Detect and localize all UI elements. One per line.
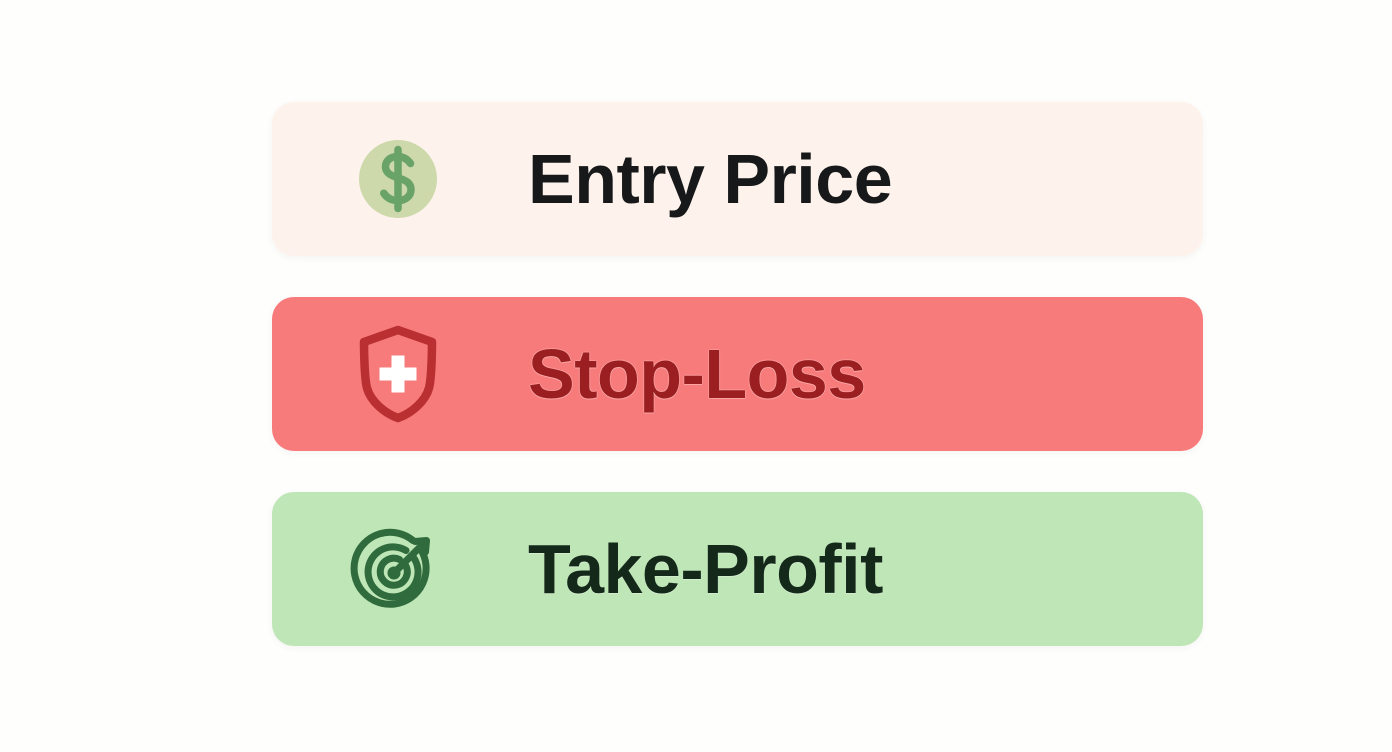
card-take-profit[interactable]: Take-Profit [272,492,1203,646]
dollar-coin-icon [358,131,438,227]
card-stop-loss[interactable]: Stop-Loss [272,297,1203,451]
card-label-take-profit: Take-Profit [528,534,883,604]
card-entry-price[interactable]: Entry Price [272,102,1203,256]
trade-level-card-list: Entry Price Stop-Loss [272,102,1203,646]
card-label-stop-loss: Stop-Loss [528,339,866,409]
shield-cross-icon [358,326,438,422]
card-label-entry-price: Entry Price [528,144,892,214]
target-arrow-icon [358,521,438,617]
trade-levels-panel: Entry Price Stop-Loss [0,0,1392,752]
